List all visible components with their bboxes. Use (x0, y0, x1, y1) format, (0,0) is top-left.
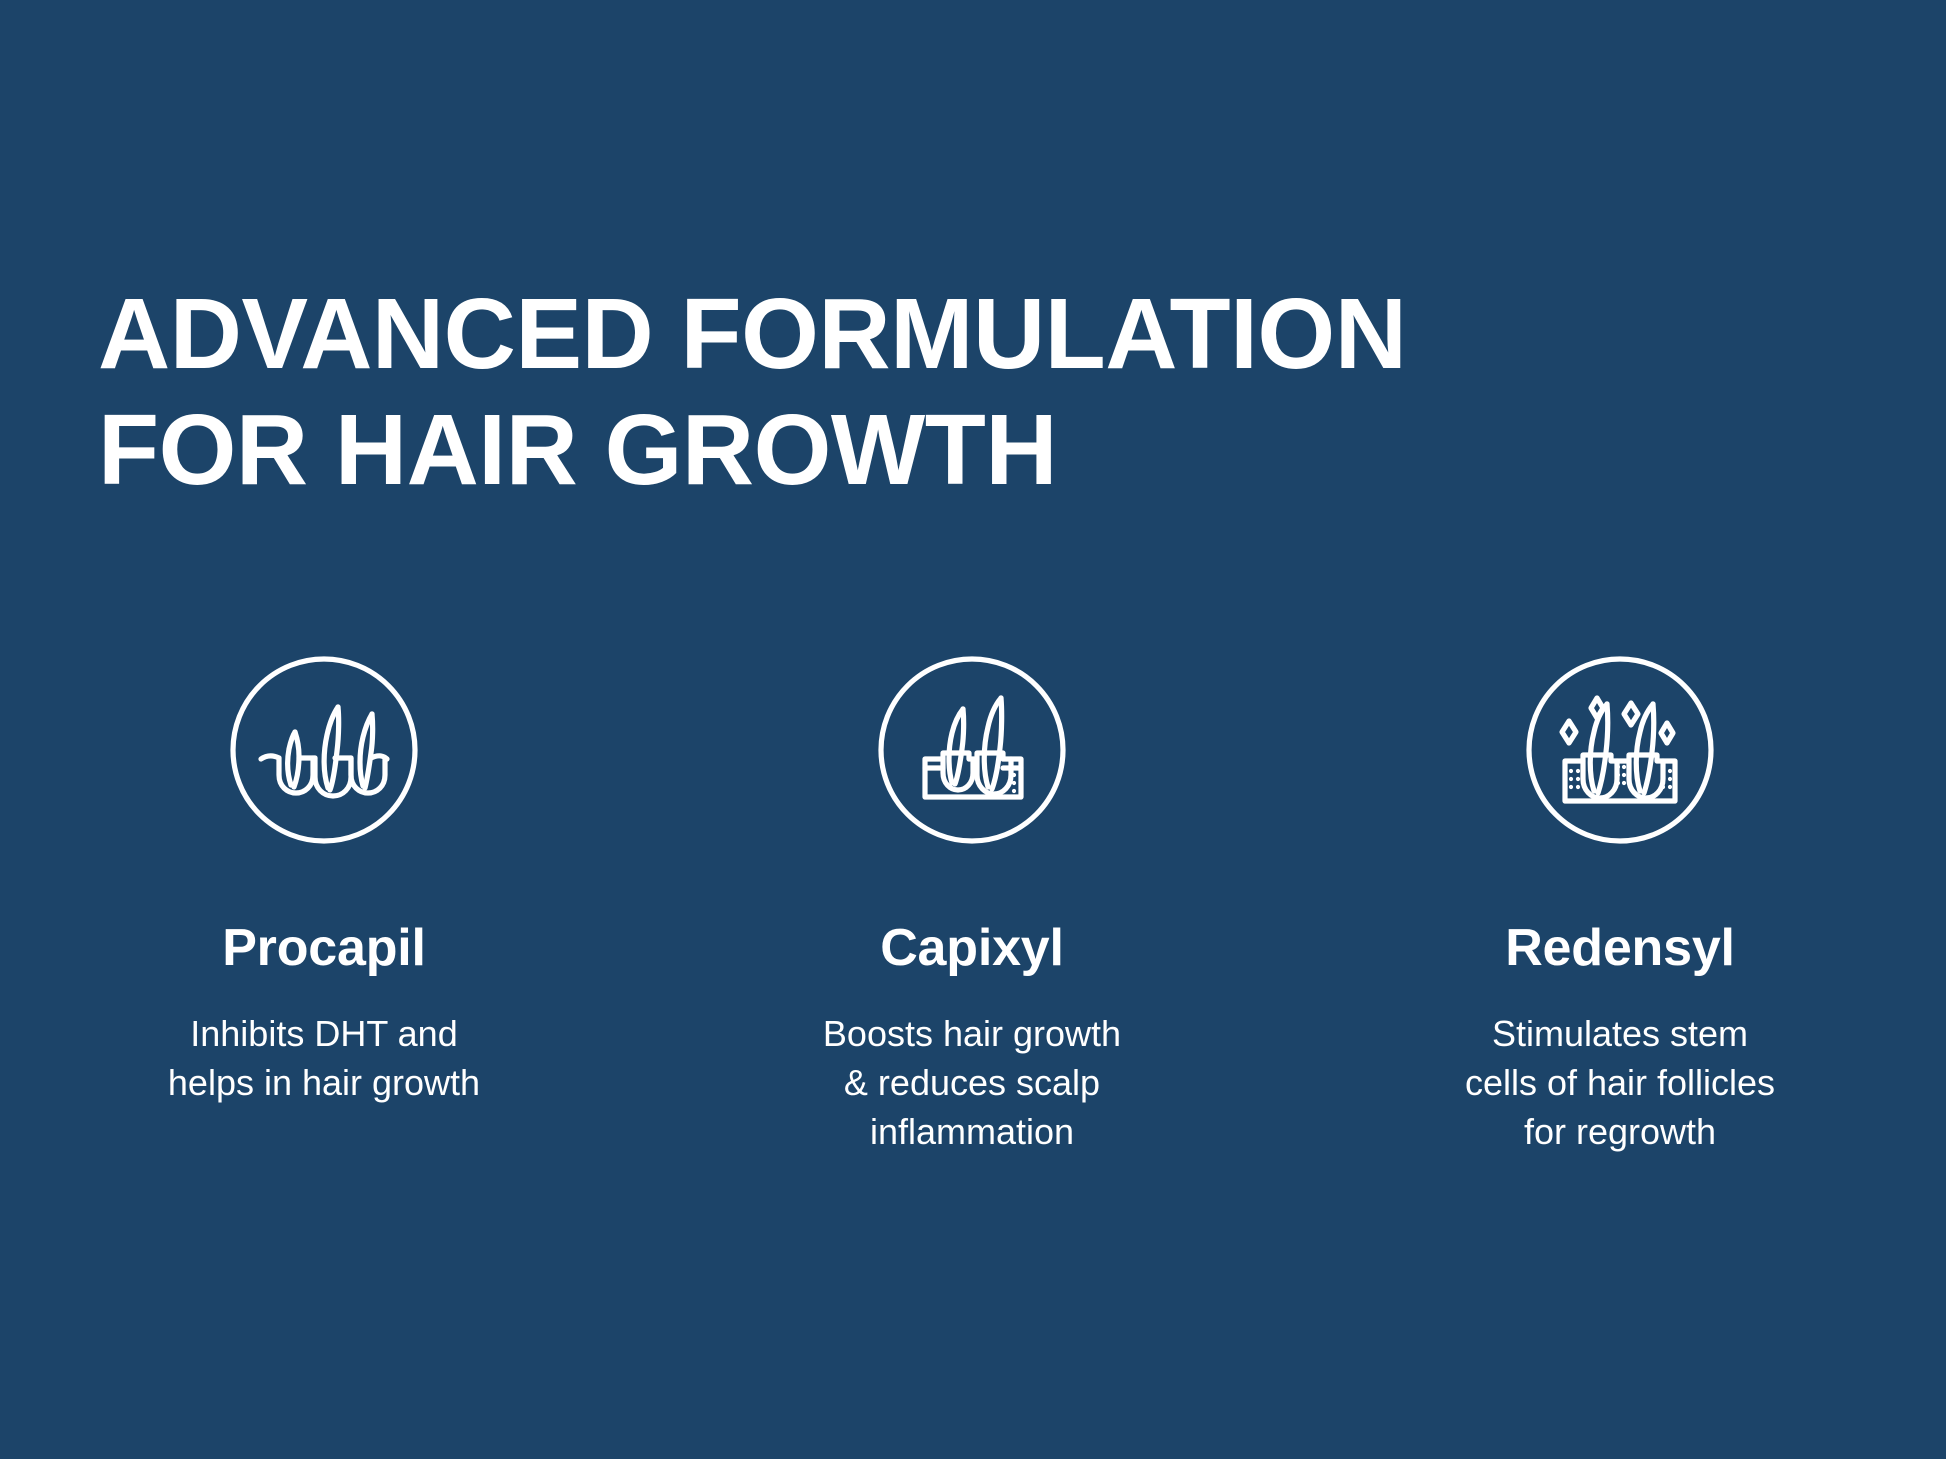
ingredient-name: Redensyl (1505, 919, 1735, 977)
hair-scalp-sparkle-icon (1525, 655, 1715, 845)
ingredient-description: Stimulates stem cells of hair follicles … (1465, 1009, 1775, 1156)
ingredient-description: Inhibits DHT and helps in hair growth (168, 1009, 480, 1107)
ingredient-column-procapil: Procapil Inhibits DHT and helps in hair … (0, 655, 648, 1107)
hair-follicles-icon (229, 655, 419, 845)
ingredient-columns: Procapil Inhibits DHT and helps in hair … (0, 655, 1946, 1156)
page-title: ADVANCED FORMULATION FOR HAIR GROWTH (98, 276, 1598, 508)
slide-background: ADVANCED FORMULATION FOR HAIR GROWTH (0, 0, 1946, 1459)
hair-scalp-growth-icon (877, 655, 1067, 845)
ingredient-description: Boosts hair growth & reduces scalp infla… (823, 1009, 1121, 1156)
ingredient-column-redensyl: Redensyl Stimulates stem cells of hair f… (1296, 655, 1944, 1156)
ingredient-column-capixyl: Capixyl Boosts hair growth & reduces sca… (648, 655, 1296, 1156)
ingredient-name: Capixyl (880, 919, 1064, 977)
ingredient-name: Procapil (222, 919, 426, 977)
